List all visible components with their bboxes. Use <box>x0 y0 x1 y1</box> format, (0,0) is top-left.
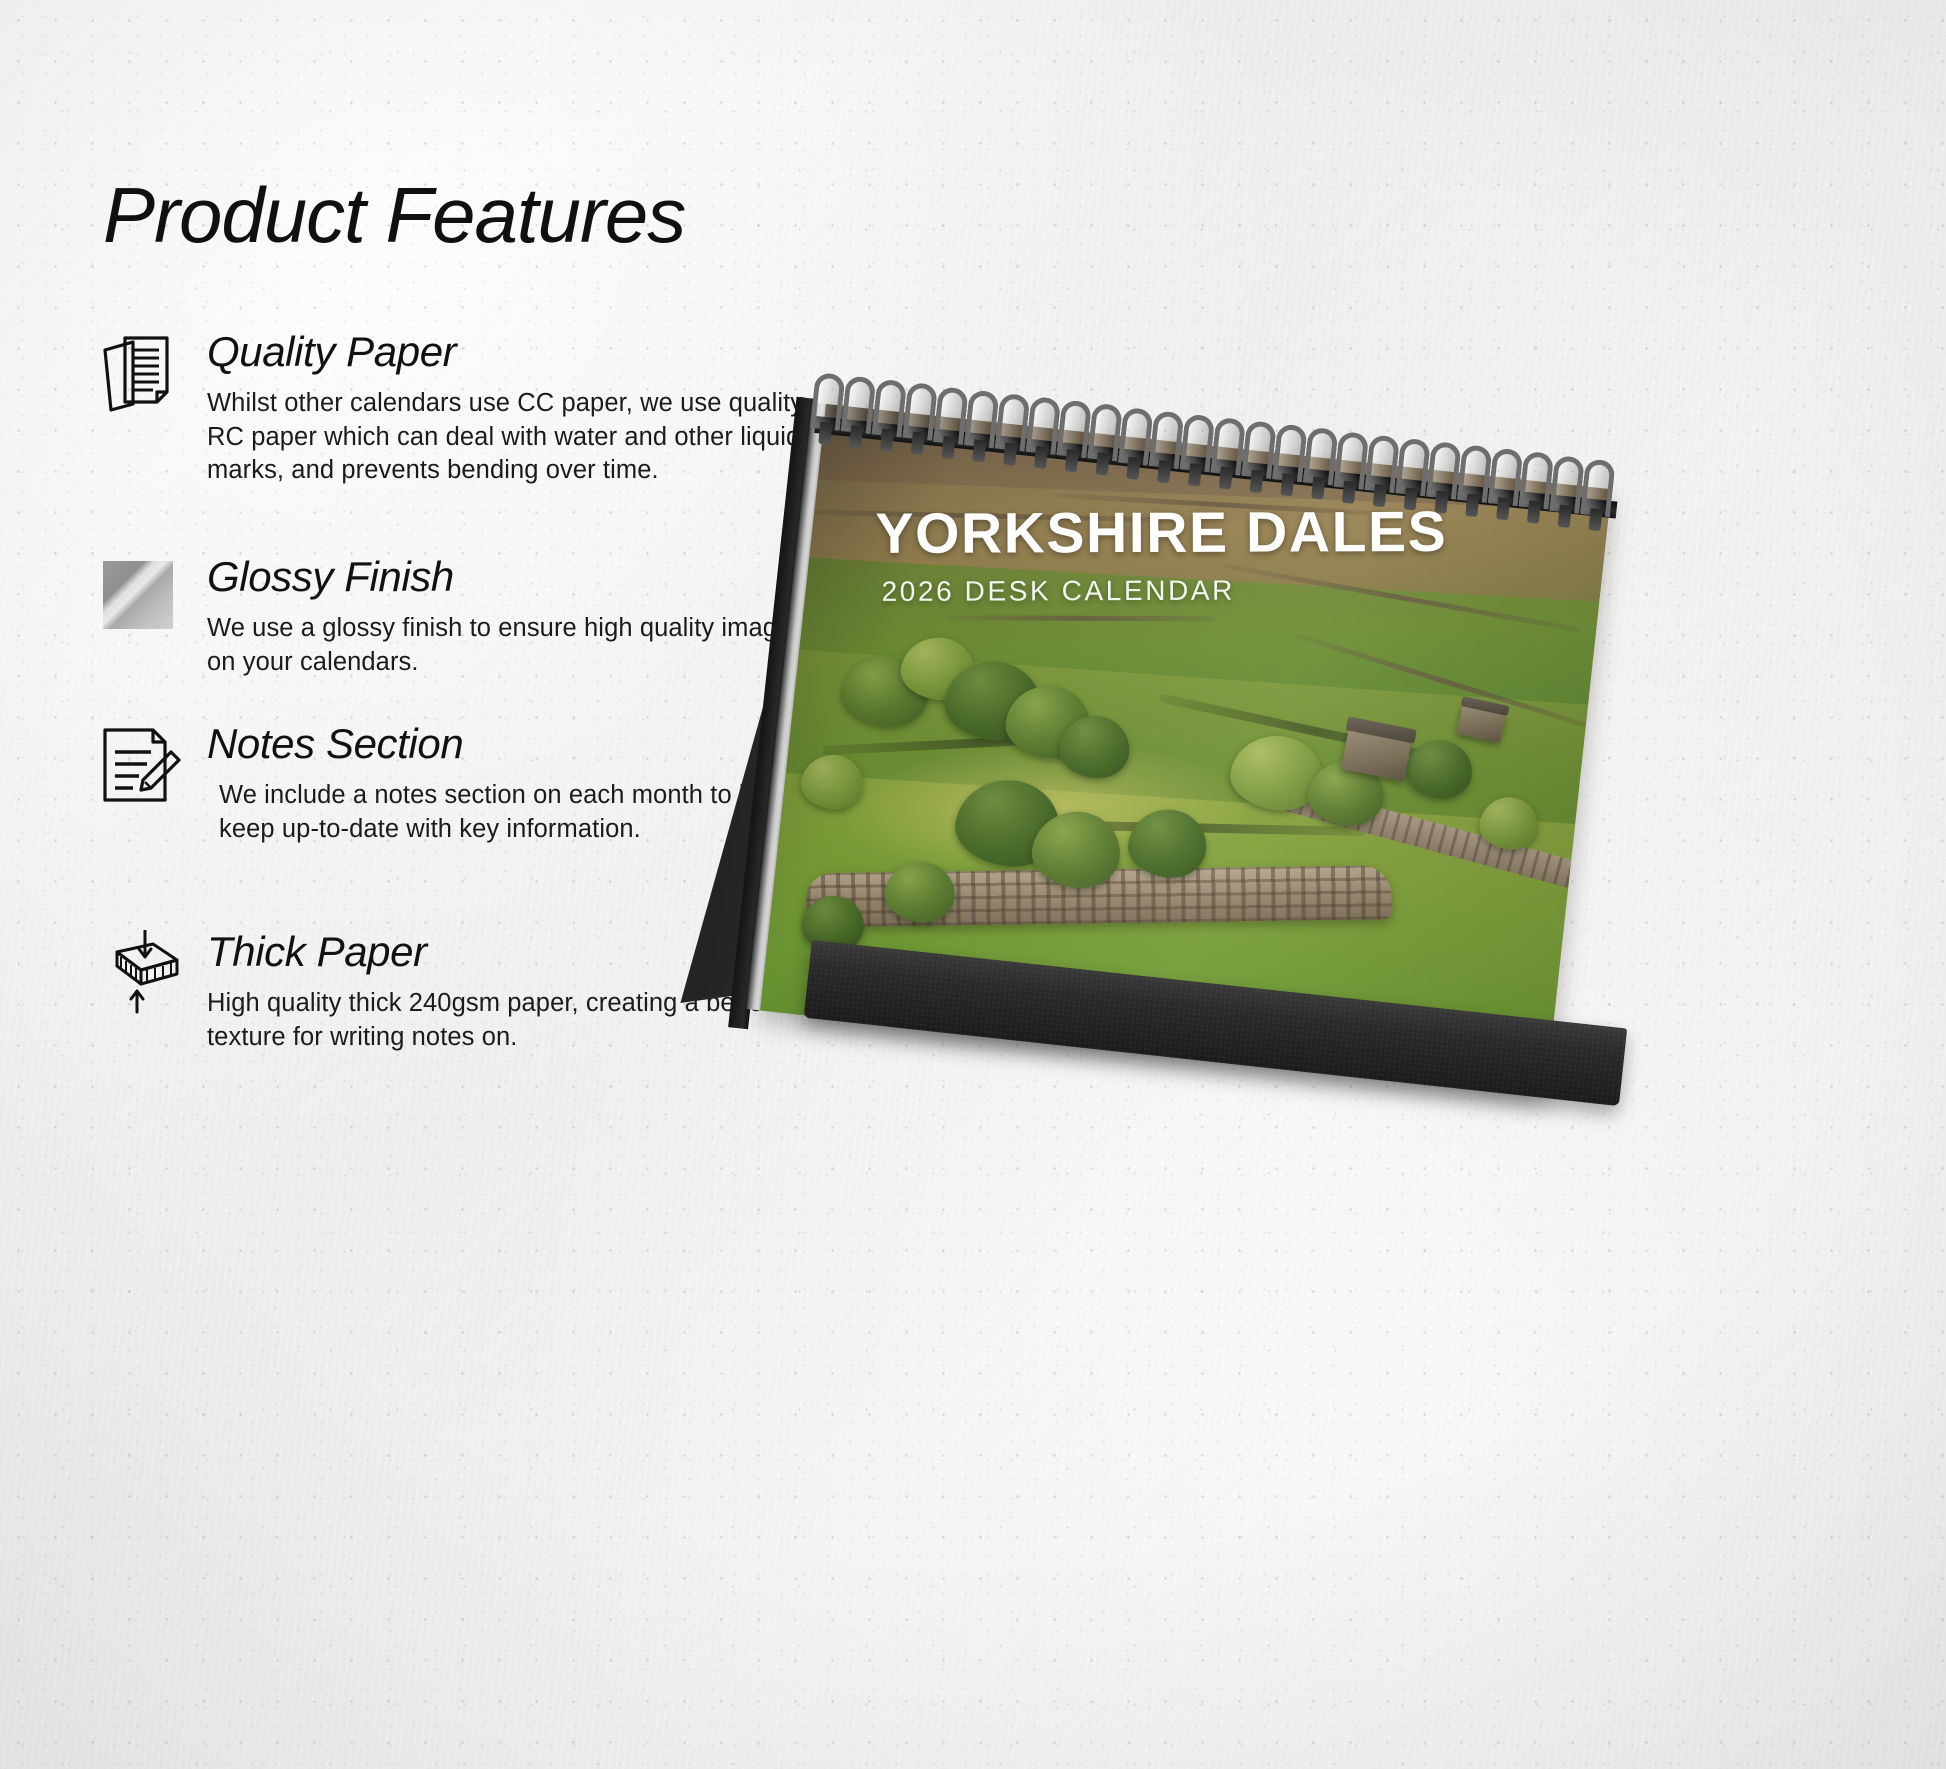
spiral-coil <box>933 386 969 445</box>
spiral-coil <box>1518 451 1554 510</box>
spiral-coil <box>1580 458 1616 517</box>
spiral-coil <box>1364 434 1400 493</box>
calendar-subtitle: 2026 DESK CALENDAR <box>882 574 1448 608</box>
notepad-pencil-icon <box>95 722 187 806</box>
spiral-coil <box>1549 455 1585 514</box>
spiral-coil <box>1395 437 1431 496</box>
spiral-coil <box>1334 431 1370 490</box>
spiral-coil <box>1025 396 1061 455</box>
spiral-coil <box>1210 417 1246 476</box>
spiral-coil <box>1118 406 1154 465</box>
spiral-coil <box>1272 424 1308 483</box>
desk-calendar-mockup: YORKSHIRE DALES 2026 DESK CALENDAR <box>640 330 1660 1150</box>
spiral-coil <box>1087 403 1123 462</box>
spiral-coil <box>1457 444 1493 503</box>
page-title: Product Features <box>103 170 685 261</box>
stacked-documents-icon <box>95 330 187 414</box>
spiral-coil <box>1149 410 1185 469</box>
spiral-coil <box>871 379 907 438</box>
spiral-coil <box>1056 400 1092 459</box>
spiral-coil <box>902 382 938 441</box>
spiral-coil <box>1303 427 1339 486</box>
spiral-coil <box>1241 420 1277 479</box>
spiral-coil <box>1180 413 1216 472</box>
paper-thickness-icon <box>95 930 187 1014</box>
spiral-coil <box>1488 448 1524 507</box>
spiral-coil <box>964 389 1000 448</box>
glossy-swatch-icon <box>95 555 187 639</box>
spiral-coil <box>1426 441 1462 500</box>
spiral-coil <box>841 375 877 434</box>
spiral-coil <box>810 372 846 431</box>
spiral-coil <box>995 393 1031 452</box>
